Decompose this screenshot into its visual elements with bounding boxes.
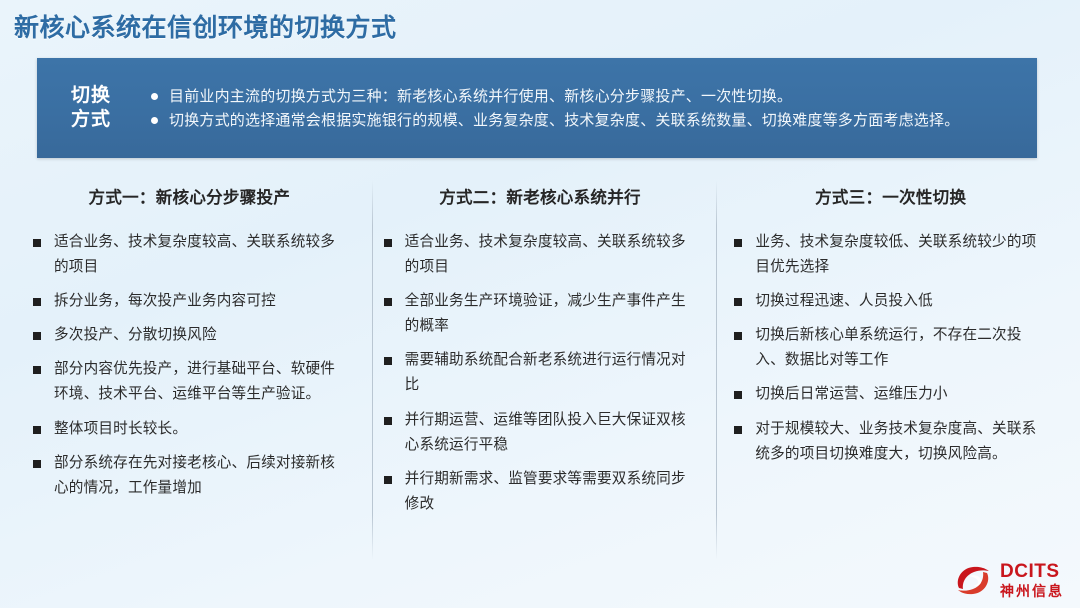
list-item: 切换后新核心单系统运行，不存在二次投入、数据比对等工作 — [731, 323, 1050, 373]
list-item: 部分内容优先投产，进行基础平台、软硬件环境、技术平台、运维平台等生产验证。 — [30, 357, 349, 407]
list-item: 整体项目时长较长。 — [30, 417, 349, 442]
list-item: 业务、技术复杂度较低、关联系统较少的项目优先选择 — [731, 230, 1050, 280]
summary-bullets: 目前业内主流的切换方式为三种：新老核心系统并行使用、新核心分步骤投产、一次性切换… — [145, 58, 1037, 158]
summary-box: 切换 方式 目前业内主流的切换方式为三种：新老核心系统并行使用、新核心分步骤投产… — [37, 58, 1037, 158]
column-heading: 方式一：新核心分步骤投产 — [30, 184, 349, 208]
column-heading: 方式三：一次性切换 — [731, 184, 1050, 208]
list-item: 切换后日常运营、运维压力小 — [731, 382, 1050, 407]
column-heading: 方式二：新老核心系统并行 — [381, 184, 700, 208]
column-method-two: 方式二：新老核心系统并行 适合业务、技术复杂度较高、关联系统较多的项目 全部业务… — [365, 172, 716, 570]
list-item: 切换过程迅速、人员投入低 — [731, 289, 1050, 314]
list-item: 部分系统存在先对接老核心、后续对接新核心的情况，工作量增加 — [30, 451, 349, 501]
logo-name-cn: 神州信息 — [1000, 584, 1064, 598]
summary-bullet-item: 目前业内主流的切换方式为三种：新老核心系统并行使用、新核心分步骤投产、一次性切换… — [149, 85, 1021, 108]
logo-name-en: DCITS — [1000, 562, 1064, 581]
page-title: 新核心系统在信创环境的切换方式 — [14, 8, 397, 44]
summary-label-line1: 切换 — [71, 84, 111, 108]
list-item: 多次投产、分散切换风险 — [30, 323, 349, 348]
list-item: 适合业务、技术复杂度较高、关联系统较多的项目 — [30, 230, 349, 280]
summary-bullet-item: 切换方式的选择通常会根据实施银行的规模、业务复杂度、技术复杂度、关联系统数量、切… — [149, 109, 1021, 132]
list-item: 并行期新需求、监管要求等需要双系统同步修改 — [381, 467, 700, 517]
column-list: 适合业务、技术复杂度较高、关联系统较多的项目 全部业务生产环境验证，减少生产事件… — [381, 230, 700, 517]
list-item: 需要辅助系统配合新老系统进行运行情况对比 — [381, 348, 700, 398]
list-item: 适合业务、技术复杂度较高、关联系统较多的项目 — [381, 230, 700, 280]
column-list: 业务、技术复杂度较低、关联系统较少的项目优先选择 切换过程迅速、人员投入低 切换… — [731, 230, 1050, 467]
comparison-columns: 方式一：新核心分步骤投产 适合业务、技术复杂度较高、关联系统较多的项目 拆分业务… — [14, 172, 1066, 570]
list-item: 并行期运营、运维等团队投入巨大保证双核心系统运行平稳 — [381, 408, 700, 458]
list-item: 全部业务生产环境验证，减少生产事件产生的概率 — [381, 289, 700, 339]
list-item: 拆分业务，每次投产业务内容可控 — [30, 289, 349, 314]
dcits-swirl-icon — [953, 562, 993, 598]
summary-label: 切换 方式 — [37, 58, 145, 158]
list-item: 对于规模较大、业务技术复杂度高、关联系统多的项目切换难度大，切换风险高。 — [731, 417, 1050, 467]
summary-bullet-list: 目前业内主流的切换方式为三种：新老核心系统并行使用、新核心分步骤投产、一次性切换… — [149, 85, 1021, 134]
column-list: 适合业务、技术复杂度较高、关联系统较多的项目 拆分业务，每次投产业务内容可控 多… — [30, 230, 349, 501]
column-method-one: 方式一：新核心分步骤投产 适合业务、技术复杂度较高、关联系统较多的项目 拆分业务… — [14, 172, 365, 570]
column-method-three: 方式三：一次性切换 业务、技术复杂度较低、关联系统较少的项目优先选择 切换过程迅… — [715, 172, 1066, 570]
summary-label-line2: 方式 — [71, 108, 111, 132]
logo-text: DCITS 神州信息 — [1000, 562, 1064, 598]
company-logo: DCITS 神州信息 — [953, 562, 1064, 598]
